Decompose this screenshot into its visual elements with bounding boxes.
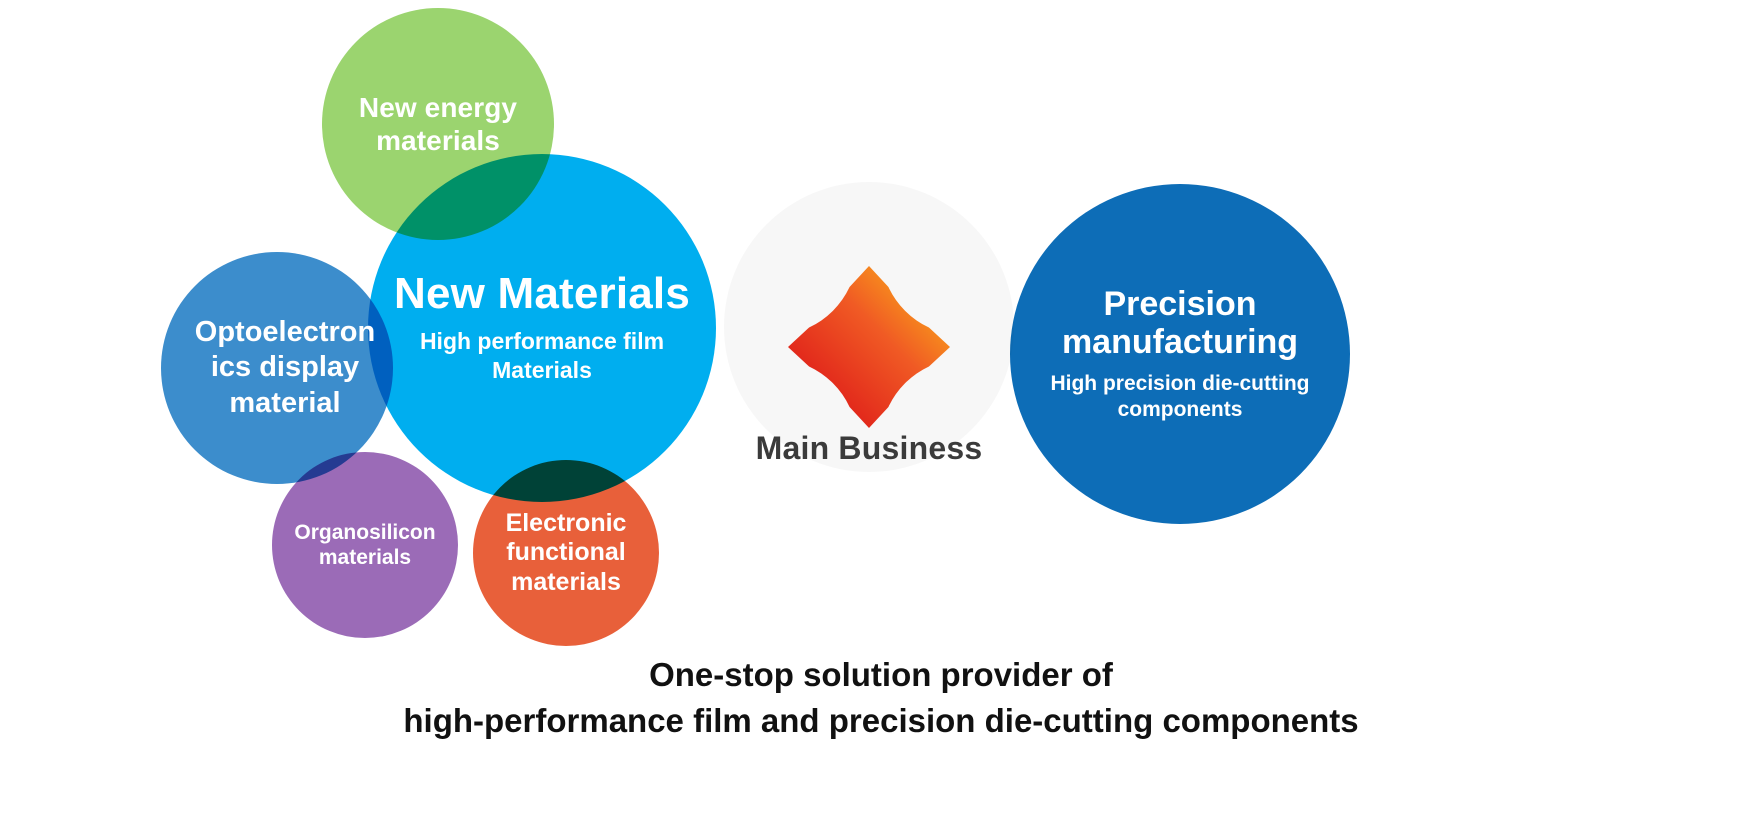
diagram-canvas: New energy materials Optoelectron ics di… — [0, 0, 1762, 840]
bubble-organosilicon-materials[interactable] — [272, 452, 458, 638]
tagline-line-2: high-performance film and precision die-… — [0, 698, 1762, 744]
bubble-precision-manufacturing[interactable] — [1010, 184, 1350, 524]
tagline: One-stop solution provider of high-perfo… — [0, 652, 1762, 743]
main-business-label: Main Business — [724, 430, 1014, 467]
bubble-new-materials[interactable] — [368, 154, 716, 502]
bubble-electronic-functional-materials[interactable] — [473, 460, 659, 646]
bubble-optoelectronics-display-material[interactable] — [161, 252, 393, 484]
four-point-concave-star-icon — [788, 266, 950, 428]
tagline-line-1: One-stop solution provider of — [0, 652, 1762, 698]
